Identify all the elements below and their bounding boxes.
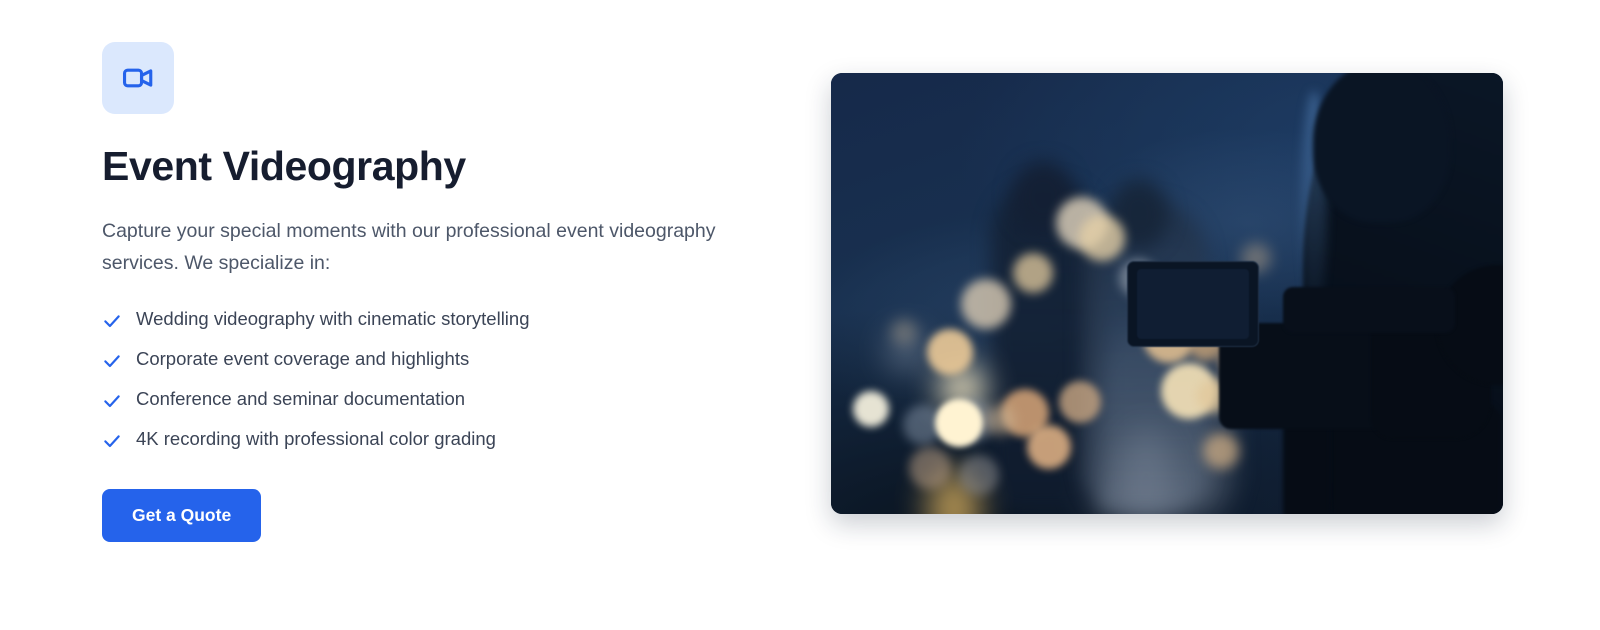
bokeh-light <box>853 391 889 427</box>
list-item: Wedding videography with cinematic story… <box>102 308 802 331</box>
bokeh-light <box>961 279 1011 329</box>
video-camera-icon-tile <box>102 42 174 114</box>
bokeh-light <box>959 455 999 495</box>
check-icon <box>102 431 122 451</box>
feature-label: Wedding videography with cinematic story… <box>136 308 530 330</box>
list-item: Conference and seminar documentation <box>102 388 802 411</box>
video-camera-icon <box>121 61 155 95</box>
check-icon <box>102 311 122 331</box>
bokeh-light <box>1059 381 1101 423</box>
check-icon <box>102 391 122 411</box>
intro-paragraph: Capture your special moments with our pr… <box>102 215 772 279</box>
get-a-quote-button[interactable]: Get a Quote <box>102 489 261 542</box>
bokeh-light <box>1079 215 1125 261</box>
feature-label: Conference and seminar documentation <box>136 388 465 410</box>
check-icon <box>102 351 122 371</box>
list-item: 4K recording with professional color gra… <box>102 428 802 451</box>
feature-label: Corporate event coverage and highlights <box>136 348 469 370</box>
bokeh-light <box>985 405 1015 435</box>
operator-head-silhouette <box>1313 73 1451 223</box>
photo-canvas <box>831 73 1503 514</box>
videography-photo <box>831 73 1503 514</box>
bokeh-light <box>891 319 917 345</box>
bokeh-light <box>1203 433 1239 469</box>
page-title: Event Videography <box>102 144 802 188</box>
service-content: Event Videography Capture your special m… <box>102 42 802 542</box>
page-root: Event Videography Capture your special m… <box>0 0 1600 630</box>
camera-tripod <box>1283 423 1329 514</box>
feature-list: Wedding videography with cinematic story… <box>102 308 802 451</box>
camcorder-top-handle <box>1283 287 1455 333</box>
bokeh-light <box>1027 425 1071 469</box>
bokeh-light <box>1013 253 1053 293</box>
camcorder-lcd-screen <box>1137 269 1249 339</box>
bokeh-light <box>909 447 951 489</box>
list-item: Corporate event coverage and highlights <box>102 348 802 371</box>
feature-label: 4K recording with professional color gra… <box>136 428 496 450</box>
bokeh-light <box>935 399 983 447</box>
bokeh-light <box>927 329 973 375</box>
